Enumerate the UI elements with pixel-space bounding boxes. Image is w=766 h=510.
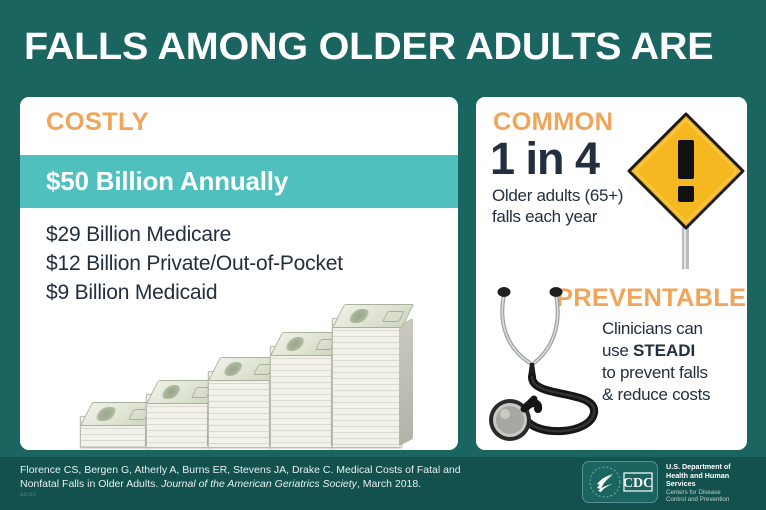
cdc-logo-lockup: CDC U.S. Department of Health and Human … (582, 461, 754, 503)
infographic-poster: FALLS AMONG OLDER ADULTS ARE COSTLY $50 … (0, 0, 766, 510)
preventable-line2: use STEADI (602, 340, 747, 362)
cdc-agency-text: U.S. Department of Health and Human Serv… (666, 463, 756, 504)
money-stack-1 (80, 416, 146, 446)
cdc-mark-text: CDC (623, 476, 653, 491)
citation-journal: Journal of the American Geriatrics Socie… (161, 478, 357, 490)
money-stack-2 (146, 394, 208, 446)
costly-heading: COSTLY (46, 108, 149, 137)
steadi-label: STEADI (633, 341, 695, 360)
one-in-four-statistic: 1 in 4 (490, 136, 599, 182)
panel-costly: COSTLY $50 Billion Annually $29 Billion … (20, 97, 458, 450)
stethoscope-icon (478, 277, 608, 447)
page-title: FALLS AMONG OLDER ADULTS ARE (24, 24, 766, 72)
cost-banner: $50 Billion Annually (20, 155, 458, 208)
cost-breakdown-list: $29 Billion Medicare $12 Billion Private… (46, 220, 446, 307)
warning-exclamation-sign-icon (624, 109, 747, 269)
cost-line-private: $12 Billion Private/Out-of-Pocket (46, 249, 446, 278)
agency-line4: Control and Prevention (666, 496, 756, 504)
hhs-eagle-seal-icon: CDC (583, 462, 657, 502)
hhs-badge: CDC (582, 461, 658, 503)
panel-common-preventable: COMMON 1 in 4 Older adults (65+) falls e… (476, 97, 747, 450)
preventable-subtext: Clinicians can use STEADI to prevent fal… (602, 318, 747, 406)
citation: Florence CS, Bergen G, Atherly A, Burns … (20, 463, 490, 491)
preventable-line4: & reduce costs (602, 384, 747, 406)
money-stack-5 (332, 318, 400, 446)
money-stack-4 (270, 346, 332, 446)
preventable-line1: Clinicians can (602, 318, 747, 340)
money-stack-3 (208, 371, 270, 446)
cdc-mark-box: CDC (623, 473, 653, 491)
money-stacks-chart (60, 301, 440, 446)
agency-line2: Health and Human Services (666, 472, 756, 489)
preventable-line3: to prevent falls (602, 362, 747, 384)
citation-date: , March 2018. (357, 478, 421, 490)
agency-line3: Centers for Disease (666, 489, 756, 497)
cost-banner-text: $50 Billion Annually (46, 166, 288, 197)
cost-line-medicare: $29 Billion Medicare (46, 220, 446, 249)
citation-artifact: atcos (20, 492, 36, 498)
